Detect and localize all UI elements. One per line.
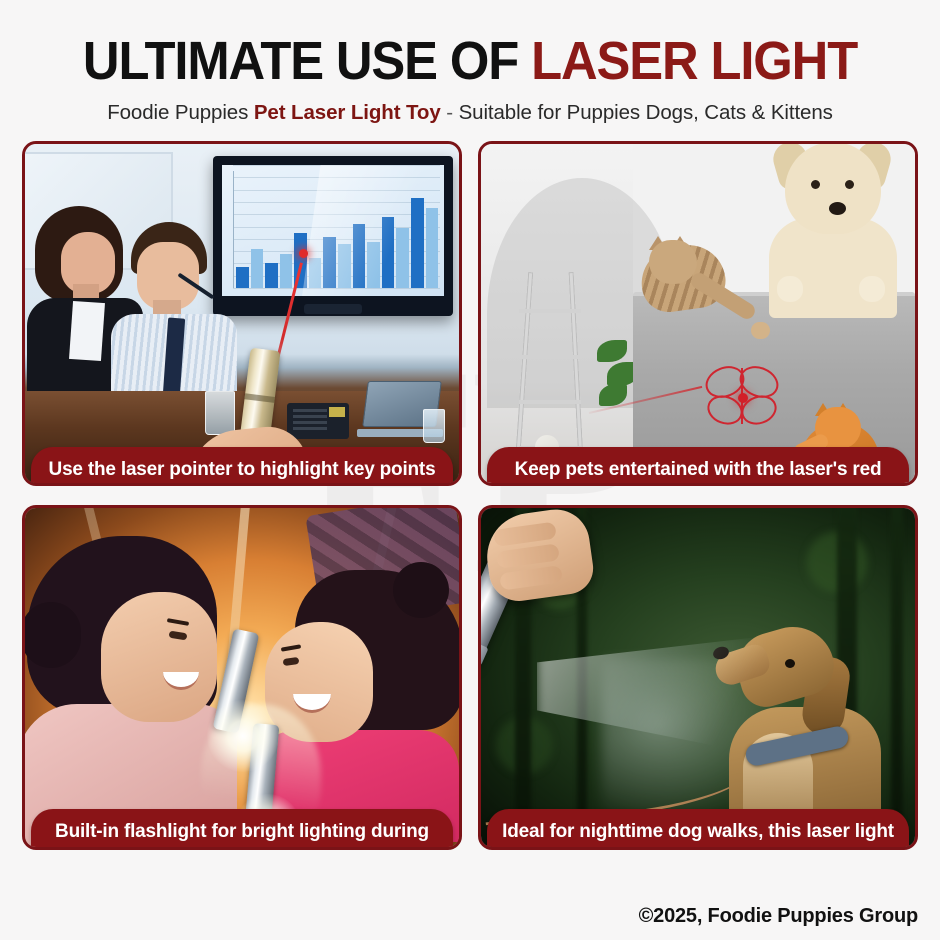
- mother-hair-bun: [25, 602, 81, 668]
- feature-panel-grid: Use the laser pointer to highlight key p…: [22, 141, 918, 896]
- laser-dot: [299, 249, 308, 258]
- dog-eye-right: [845, 180, 854, 189]
- presentation-screen: [213, 156, 453, 316]
- panel-night-walk-photo: [481, 508, 915, 847]
- page-subtitle: Foodie Puppies Pet Laser Light Toy - Sui…: [0, 101, 940, 125]
- bar-chart-display: [222, 165, 444, 296]
- water-glass-secondary: [423, 409, 445, 443]
- woman-shirt: [69, 301, 105, 361]
- flashlight-flare-upper: [207, 700, 279, 772]
- phone-keypad: [293, 409, 327, 433]
- subtitle-prefix: Foodie Puppies: [107, 101, 254, 124]
- panel-night-walk: Ideal for nighttime dog walks, this lase…: [478, 505, 918, 850]
- panel-presentation-photo: [25, 144, 459, 483]
- finger: [499, 565, 563, 590]
- title-black-part: ULTIMATE USE OF: [83, 31, 531, 91]
- panel-flashlight-caption: Built-in flashlight for bright lighting …: [31, 809, 453, 850]
- chart-bar: [236, 267, 249, 288]
- laser-dot: [738, 393, 748, 403]
- ladder-rung: [519, 309, 581, 313]
- dog-on-sofa: [763, 144, 899, 318]
- screen-glare: [298, 165, 444, 296]
- panel-pets-caption: Keep pets entertained with the laser's r…: [487, 447, 909, 486]
- dog-paw-left: [777, 276, 803, 302]
- panel-night-walk-caption: Ideal for nighttime dog walks, this lase…: [487, 809, 909, 850]
- finger: [496, 543, 560, 568]
- dog-paw-right: [859, 276, 885, 302]
- plant-leaf: [597, 340, 627, 362]
- subtitle-product-name: Pet Laser Light Toy: [254, 101, 441, 124]
- conference-phone: [287, 403, 349, 439]
- header: ULTIMATE USE OF LASER LIGHT Foodie Puppi…: [0, 0, 940, 125]
- page-title: ULTIMATE USE OF LASER LIGHT: [28, 34, 912, 88]
- subtitle-suffix: Suitable for Puppies Dogs, Cats & Kitten…: [459, 101, 833, 124]
- copyright-footer: ©2025, Foodie Puppies Group: [639, 905, 918, 928]
- panel-presentation-caption: Use the laser pointer to highlight key p…: [31, 447, 453, 486]
- chart-bar: [280, 254, 293, 289]
- tabby-cat: [641, 240, 741, 360]
- water-glass: [205, 391, 235, 435]
- phone-notepad: [329, 407, 345, 417]
- cat-paw: [751, 322, 770, 339]
- dog-head: [785, 144, 881, 234]
- finger: [493, 522, 557, 547]
- plant-leaf: [599, 384, 627, 406]
- dog-eye-left: [811, 180, 820, 189]
- subtitle-dash: -: [441, 101, 459, 124]
- ladder-rung: [519, 355, 581, 359]
- panel-pets: Keep pets entertained with the laser's r…: [478, 141, 918, 486]
- title-red-part: LASER LIGHT: [531, 31, 857, 91]
- screen-base: [304, 304, 362, 314]
- dog-eye: [785, 659, 795, 668]
- chart-bar: [251, 249, 264, 288]
- daughter-hair-bun: [393, 562, 449, 618]
- panel-flashlight: Built-in flashlight for bright lighting …: [22, 505, 462, 850]
- mother-face: [101, 592, 217, 722]
- infographic-page: FP ULTIMATE USE OF LASER LIGHT Foodie Pu…: [0, 0, 940, 940]
- panel-pets-photo: [481, 144, 915, 483]
- dog-nose: [829, 202, 846, 215]
- ladder-rung: [519, 400, 581, 404]
- chart-bar: [265, 263, 278, 288]
- panel-presentation: Use the laser pointer to highlight key p…: [22, 141, 462, 486]
- panel-flashlight-photo: [25, 508, 459, 847]
- cat-head: [649, 240, 697, 284]
